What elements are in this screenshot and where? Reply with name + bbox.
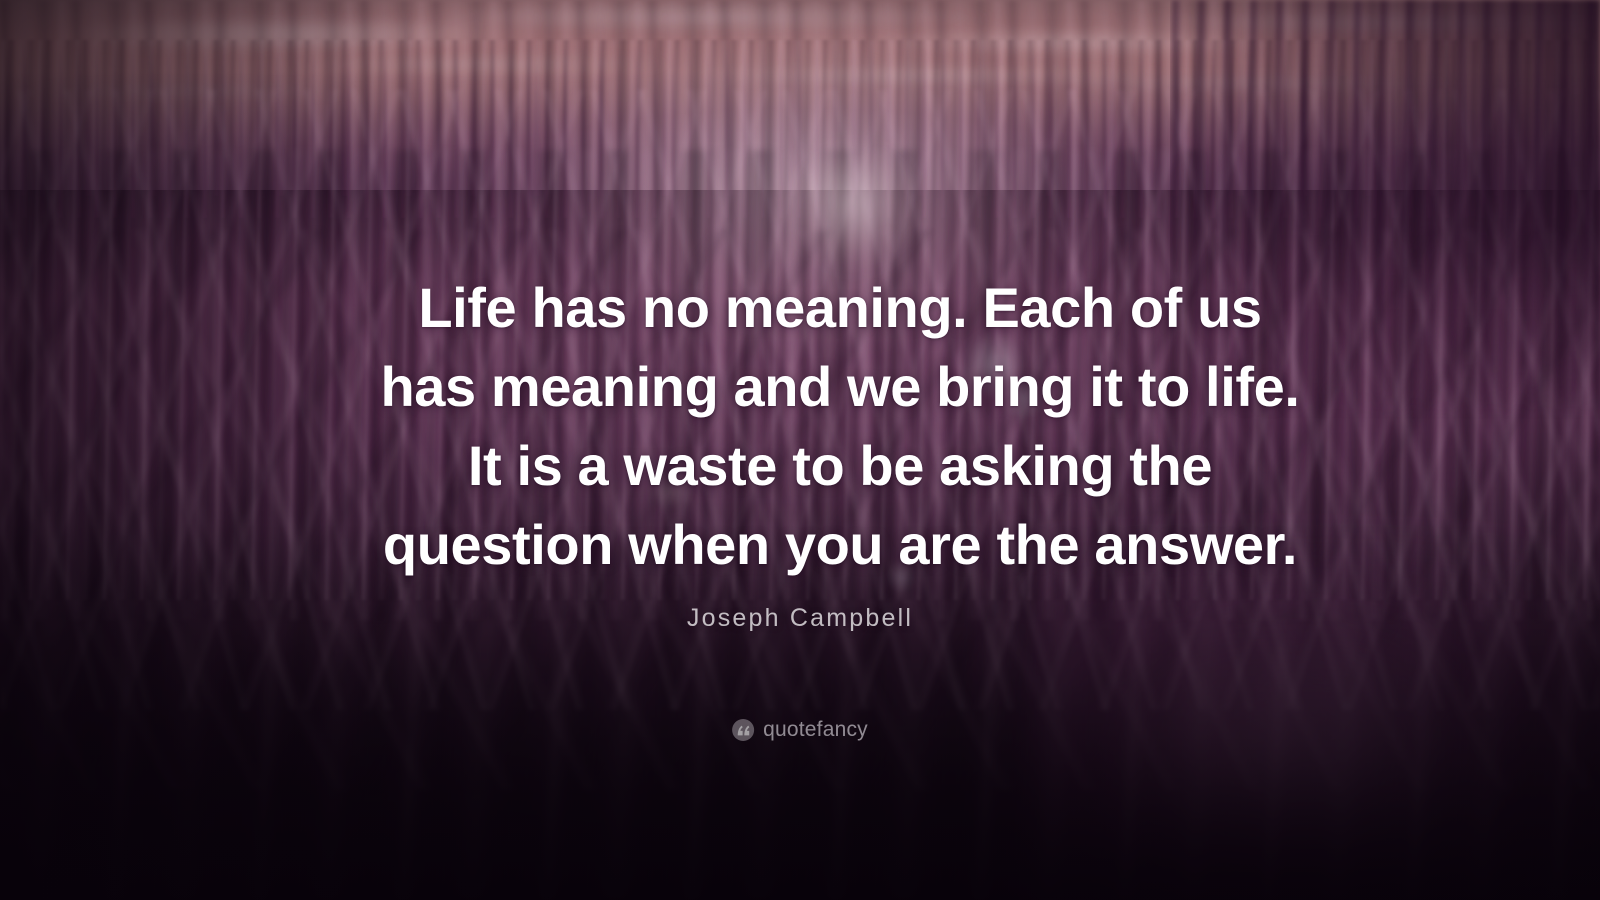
quotefancy-watermark[interactable]: quotefancy	[732, 718, 868, 742]
quote-line-2: has meaning and we bring it to life.	[360, 347, 1320, 426]
quote-poster: Life has no meaning. Each of us has mean…	[0, 0, 1600, 900]
poster-content: Life has no meaning. Each of us has mean…	[0, 0, 1600, 900]
quote-text: Life has no meaning. Each of us has mean…	[360, 268, 1320, 584]
quote-line-4: question when you are the answer.	[360, 505, 1320, 584]
quote-line-3: It is a waste to be asking the	[360, 426, 1320, 505]
quote-mark-icon	[732, 719, 754, 741]
quotefancy-wordmark: quotefancy	[763, 718, 868, 742]
quote-line-1: Life has no meaning. Each of us	[360, 268, 1320, 347]
quote-author: Joseph Campbell	[687, 604, 913, 633]
